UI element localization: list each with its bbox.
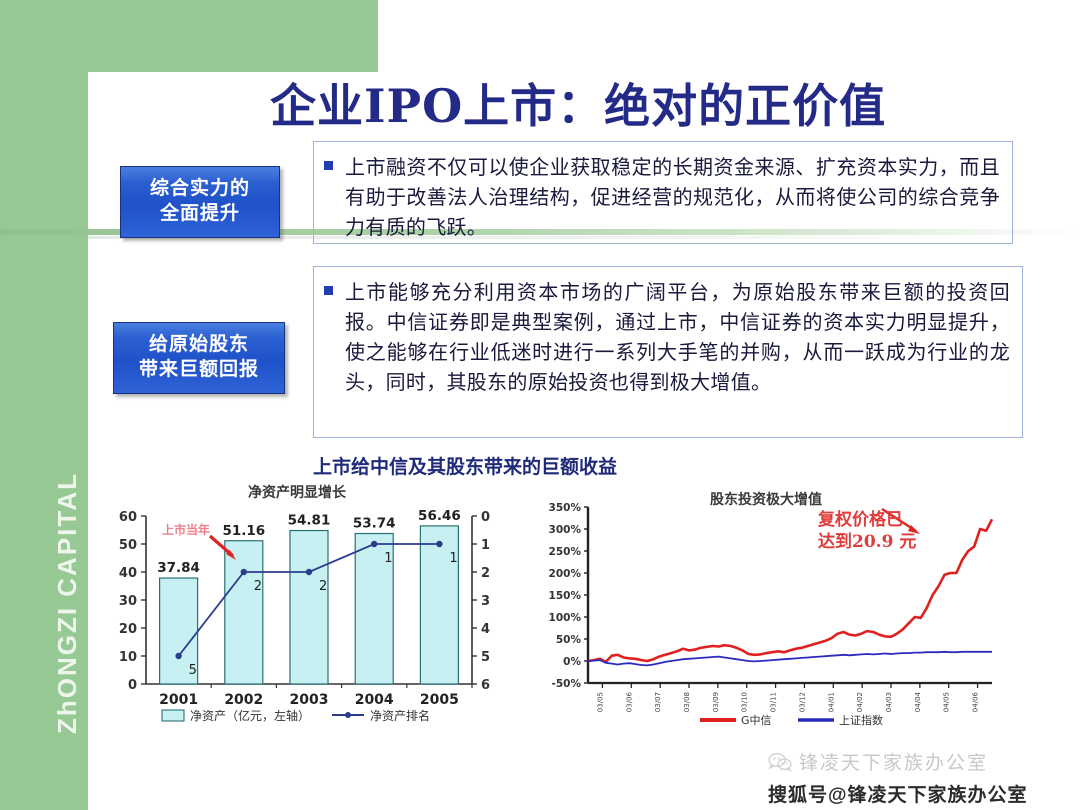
chart-title-left: 净资产明显增长 bbox=[248, 482, 346, 502]
svg-text:100%: 100% bbox=[549, 612, 582, 624]
svg-text:2003: 2003 bbox=[290, 692, 329, 708]
svg-text:上证指数: 上证指数 bbox=[839, 713, 883, 727]
svg-text:上市当年: 上市当年 bbox=[162, 522, 210, 537]
svg-text:1: 1 bbox=[384, 551, 392, 566]
svg-text:53.74: 53.74 bbox=[353, 516, 396, 532]
svg-text:2005: 2005 bbox=[420, 692, 459, 708]
svg-text:4: 4 bbox=[481, 622, 490, 637]
watermark-bottom-text: 搜狐号@锋凌天下家族办公室 bbox=[768, 780, 1028, 807]
watermark-top: 锋凌天下家族办公室 bbox=[768, 748, 988, 775]
svg-text:5: 5 bbox=[189, 663, 197, 678]
chip-line-1: 综合实力的 bbox=[121, 176, 279, 201]
bullet-square-icon bbox=[324, 161, 333, 170]
svg-text:50%: 50% bbox=[556, 634, 582, 646]
svg-text:51.16: 51.16 bbox=[222, 523, 265, 539]
bullet-text-2: 上市能够充分利用资本市场的广阔平台，为原始股东带来巨额的投资回报。中信证券即是典… bbox=[345, 277, 1010, 397]
svg-text:54.81: 54.81 bbox=[288, 513, 331, 529]
svg-text:03/06: 03/06 bbox=[625, 691, 633, 712]
svg-text:150%: 150% bbox=[549, 590, 582, 602]
svg-text:2001: 2001 bbox=[159, 692, 198, 708]
svg-text:04/04: 04/04 bbox=[914, 691, 922, 712]
svg-text:04/01: 04/01 bbox=[827, 692, 835, 712]
svg-text:250%: 250% bbox=[549, 546, 582, 558]
svg-text:0: 0 bbox=[481, 510, 490, 525]
page-title: 企业IPO上市：绝对的正价值 bbox=[270, 74, 970, 138]
watermark-top-text: 锋凌天下家族办公室 bbox=[799, 748, 988, 775]
svg-text:2: 2 bbox=[319, 579, 327, 594]
svg-text:2: 2 bbox=[254, 579, 262, 594]
chart-annotation-line-2: 达到20.9 元 bbox=[818, 527, 916, 552]
svg-text:03/07: 03/07 bbox=[654, 692, 662, 712]
label-chip-founder-returns[interactable]: 给原始股东 带来巨额回报 bbox=[113, 322, 285, 394]
svg-text:2002: 2002 bbox=[224, 692, 263, 708]
chip-line-2: 全面提升 bbox=[121, 201, 279, 226]
svg-text:3: 3 bbox=[481, 594, 490, 609]
svg-text:03/09: 03/09 bbox=[712, 692, 720, 712]
svg-text:03/12: 03/12 bbox=[798, 692, 806, 712]
svg-text:G中信: G中信 bbox=[741, 714, 772, 727]
chart-title-right: 股东投资极大增值 bbox=[710, 489, 822, 509]
svg-text:净资产排名: 净资产排名 bbox=[370, 708, 430, 723]
bullet-text-1: 上市融资不仅可以使企业获取稳定的长期资金来源、扩充资本实力，而且有助于改善法人治… bbox=[345, 152, 1000, 242]
svg-text:10: 10 bbox=[119, 650, 137, 665]
charts-section-heading: 上市给中信及其股东带来的巨额收益 bbox=[313, 452, 873, 478]
svg-text:200%: 200% bbox=[549, 568, 582, 580]
svg-text:0%: 0% bbox=[563, 656, 581, 668]
svg-text:2: 2 bbox=[481, 566, 490, 581]
svg-text:04/06: 04/06 bbox=[972, 691, 980, 712]
chart-shareholder-value-growth: 股东投资极大增值 复权价格已 达到20.9 元 350%300%250%200%… bbox=[530, 487, 1030, 735]
svg-text:56.46: 56.46 bbox=[418, 508, 461, 524]
wechat-icon bbox=[768, 752, 792, 772]
chart-net-assets-growth: 净资产明显增长 0102030405060012345637.84200151.… bbox=[100, 482, 520, 730]
svg-text:03/05: 03/05 bbox=[596, 692, 604, 712]
chip-line-1: 给原始股东 bbox=[114, 332, 284, 357]
svg-text:2004: 2004 bbox=[355, 692, 394, 708]
svg-text:40: 40 bbox=[119, 566, 137, 581]
svg-text:1: 1 bbox=[449, 551, 457, 566]
svg-text:03/10: 03/10 bbox=[741, 692, 749, 712]
svg-text:50: 50 bbox=[119, 538, 137, 553]
label-chip-comprehensive-strength[interactable]: 综合实力的 全面提升 bbox=[120, 166, 280, 238]
svg-text:20: 20 bbox=[119, 622, 137, 637]
svg-text:0: 0 bbox=[128, 678, 137, 693]
chip-line-2: 带来巨额回报 bbox=[114, 357, 284, 382]
svg-text:5: 5 bbox=[481, 650, 490, 665]
svg-text:30: 30 bbox=[119, 594, 137, 609]
svg-text:350%: 350% bbox=[549, 502, 582, 514]
svg-text:-50%: -50% bbox=[552, 678, 582, 690]
bullet-square-icon bbox=[324, 286, 333, 295]
svg-text:04/02: 04/02 bbox=[856, 692, 864, 712]
svg-text:04/05: 04/05 bbox=[943, 692, 951, 712]
sidebar-brand-text: ZhONGZI CAPITAL bbox=[49, 458, 85, 748]
bullet-textbox-2: 上市能够充分利用资本市场的广阔平台，为原始股东带来巨额的投资回报。中信证券即是典… bbox=[313, 266, 1023, 438]
bullet-textbox-1: 上市融资不仅可以使企业获取稳定的长期资金来源、扩充资本实力，而且有助于改善法人治… bbox=[313, 141, 1013, 244]
svg-text:300%: 300% bbox=[549, 524, 582, 536]
svg-text:04/03: 04/03 bbox=[885, 692, 893, 712]
svg-text:03/11: 03/11 bbox=[770, 692, 778, 712]
chart-left-svg: 0102030405060012345637.84200151.16200254… bbox=[100, 482, 520, 730]
svg-text:6: 6 bbox=[481, 678, 490, 693]
chart-right-svg: 350%300%250%200%150%100%50%0%-50%03/0503… bbox=[530, 487, 1030, 735]
svg-text:03/08: 03/08 bbox=[683, 692, 691, 712]
svg-text:60: 60 bbox=[119, 510, 137, 525]
svg-text:37.84: 37.84 bbox=[157, 560, 200, 576]
slide-canvas: ZhONGZI CAPITAL 企业IPO上市：绝对的正价值 综合实力的 全面提… bbox=[0, 0, 1080, 810]
svg-text:净资产（亿元，左轴）: 净资产（亿元，左轴） bbox=[190, 708, 310, 723]
svg-text:1: 1 bbox=[481, 538, 490, 553]
